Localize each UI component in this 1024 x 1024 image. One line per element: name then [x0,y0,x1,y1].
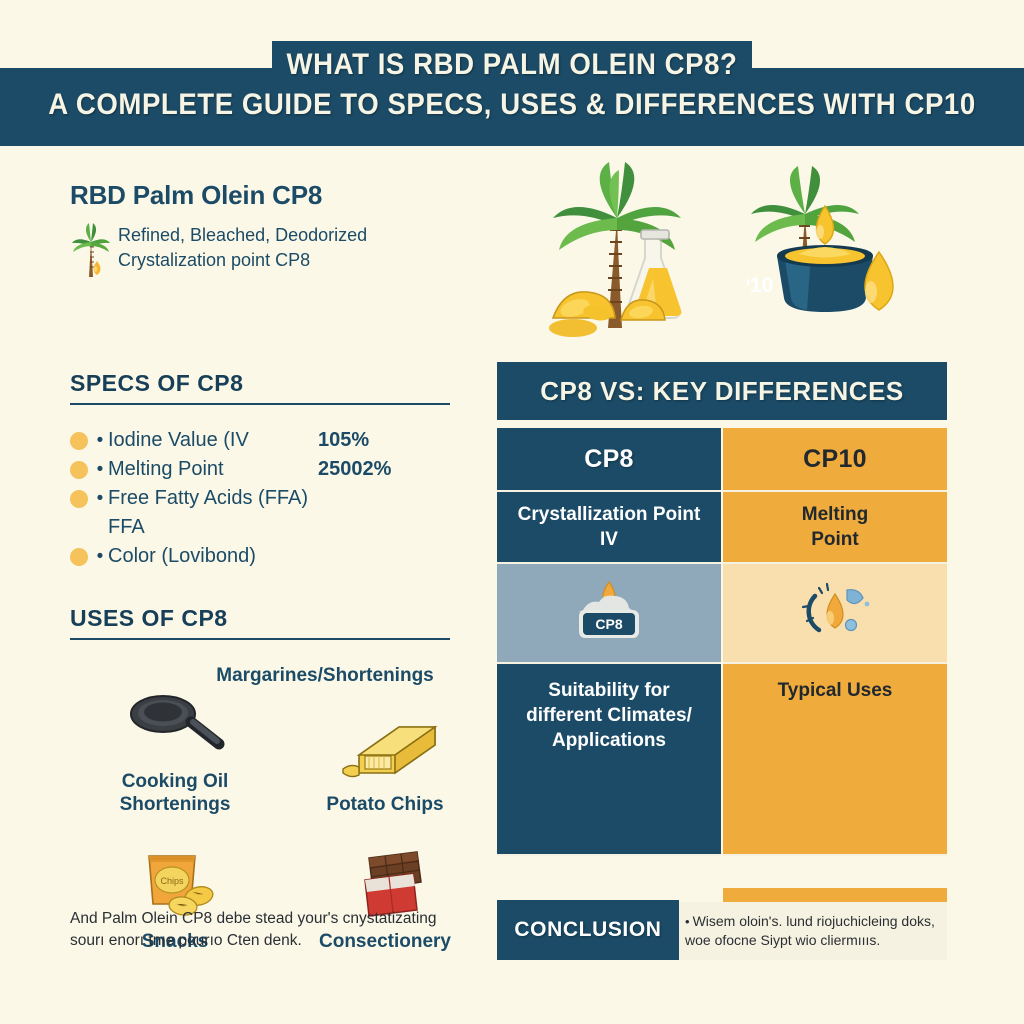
butter-block-icon [325,711,445,787]
cp8-badge-label: CP8 [595,616,622,632]
list-item: • Iodine Value (IV 105% [70,427,490,453]
palm-tree-oil-drop-icon [70,221,112,283]
table-header-label: CP8 [584,445,634,474]
spec-value: 25002% [318,456,391,482]
spec-label: Color (Lovibond) [108,543,318,569]
infographic-page: WHAT IS RBD PALM OLEIN CP8? A COMPLETE G… [0,0,1024,1024]
palm-tree-with-cp10-bowl-icon: CP10 [747,164,927,349]
cell-line2: IV [600,529,618,550]
table-header-label: CP10 [803,445,867,474]
list-item: • Melting Point 25002% [70,456,490,482]
frying-pan-icon [115,688,235,764]
uses-heading: USES OF CP8 [70,605,450,640]
table-cell-text: Melting Point [802,502,869,552]
table-row: Melting Point [723,492,947,562]
table-header-cp8: CP8 [497,428,721,490]
comparison-title: CP8 VS: KEY DIFFERENCES [497,362,947,420]
list-item: • Color (Lovibond) [70,543,490,569]
table-header-cp10: CP10 [723,428,947,490]
svg-text:Chips: Chips [160,876,184,886]
conclusion-text-line2: woe ofocne Siypt wio cliermıııs. [685,932,880,948]
comparison-table: CP8 CP10 Crystallization Point IV Meltin… [497,428,947,960]
use-caption-line2: Shortenings [120,793,231,816]
page-title-line1: WHAT IS RBD PALM OLEIN CP8? [41,46,983,84]
table-row: CP8 [497,564,721,662]
amber-column-tail [723,888,947,902]
artwork-row: CP10 [497,160,957,345]
palm-tree-with-oil-flask-icon [517,160,717,350]
spec-label: Melting Point [108,456,318,482]
intro-body: Refined, Bleached, Deodorized Crystaliza… [70,217,490,283]
spec-label: Free Fatty Acids (FFA) [108,485,318,511]
cell-line3: Applications [552,730,666,751]
table-row: Typical Uses [723,664,947,854]
use-item-cooking-oil: Cooking Oil Shortenings [70,683,280,818]
spec-subline: FFA [108,514,490,540]
table-cell-text: Crystallization Point IV [518,502,701,552]
use-caption-line1: Potato Chips [326,793,443,816]
bullet-dot-icon [70,490,88,508]
conclusion-bullet: • [685,914,690,929]
conclusion-label: CONCLUSION [514,918,661,942]
table-row: Crystallization Point IV [497,492,721,562]
bullet-glyph: • [92,488,108,510]
bullet-glyph: • [92,459,108,481]
use-caption-line1: Cooking Oil [120,770,231,793]
conclusion-label-block: CONCLUSION [497,900,679,960]
specs-list: • Iodine Value (IV 105% • Melting Point … [70,427,490,569]
use-item-potato-chips: Potato Chips [280,683,490,818]
intro-line-2: Crystalization point CP8 [118,248,367,273]
intro-section: RBD Palm Olein CP8 Refined, Bleached, [70,180,490,283]
cp8-oil-drop-badge-icon: CP8 [559,580,659,647]
table-row [723,564,947,662]
intro-title: RBD Palm Olein CP8 [70,180,490,211]
bullet-glyph: • [92,546,108,568]
melting-drop-splash-icon [785,580,885,647]
cell-line2: Point [811,529,859,550]
bullet-dot-icon [70,432,88,450]
table-cell-text: Suitability for different Climates/ Appl… [526,678,692,753]
uses-section: USES OF CP8 Margarines/Shortenings Cooki… [70,605,490,640]
table-cell-text: Typical Uses [778,678,893,703]
spec-label: Iodine Value (IV [108,427,318,453]
use-caption: Potato Chips [326,793,443,816]
cell-line1: Crystallization Point [518,504,701,525]
page-title: WHAT IS RBD PALM OLEIN CP8? A COMPLETE G… [0,46,1024,126]
conclusion-text: •Wisem oloin's. lund riojuchicleing doks… [679,912,935,950]
cell-line1: Melting [802,504,869,525]
use-caption: Cooking Oil Shortenings [120,770,231,816]
cell-line2: different Climates/ [526,705,692,726]
conclusion-text-block: •Wisem oloin's. lund riojuchicleing doks… [679,902,947,960]
spec-value: 105% [318,427,369,453]
intro-line-1: Refined, Bleached, Deodorized [118,223,367,248]
specs-section: SPECS OF CP8 • Iodine Value (IV 105% • M… [70,370,490,572]
bullet-glyph: • [92,430,108,452]
bullet-dot-icon [70,548,88,566]
bullet-dot-icon [70,461,88,479]
cp10-bowl-label: CP10 [747,274,773,297]
page-title-line2: A COMPLETE GUIDE TO SPECS, USES & DIFFER… [41,84,983,126]
cell-line1: Suitability for [548,680,669,701]
table-row: Suitability for different Climates/ Appl… [497,664,721,854]
footer-note: And Palm Olein CP8 debe stead your's cny… [70,908,465,952]
list-item: • Free Fatty Acids (FFA) [70,485,490,511]
conclusion-text-line1: Wisem oloin's. lund riojuchicleing doks, [693,913,935,929]
specs-heading: SPECS OF CP8 [70,370,450,405]
intro-description: Refined, Bleached, Deodorized Crystaliza… [118,217,367,273]
